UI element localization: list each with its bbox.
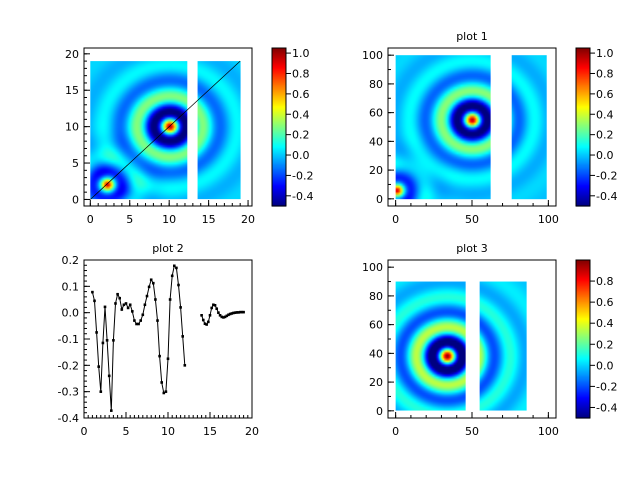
line-series-segment-1-sparse <box>92 266 184 411</box>
data-point-marker <box>207 321 210 324</box>
data-point-marker <box>127 307 130 310</box>
data-point-marker <box>144 303 147 306</box>
data-point-marker <box>150 278 153 281</box>
y-tick-label: 0.0 <box>62 307 80 320</box>
y-tick-label: 40 <box>369 347 383 360</box>
x-tick-label: 5 <box>126 213 133 226</box>
colorbar-tick-label: 0.0 <box>292 149 310 162</box>
y-tick-label: 20 <box>369 164 383 177</box>
x-tick-label: 10 <box>162 213 176 226</box>
data-point-marker <box>91 291 94 294</box>
data-point-marker <box>179 306 182 309</box>
data-point-marker <box>165 390 168 393</box>
axes-content <box>396 55 547 199</box>
heatmap-patch-right-image <box>512 55 547 199</box>
data-point-marker <box>148 286 151 289</box>
y-tick-label: 60 <box>369 319 383 332</box>
data-point-marker <box>177 284 180 287</box>
colorbar-tick-label: 0.8 <box>596 67 614 80</box>
data-point-marker <box>95 331 98 334</box>
panel-top-right: 050100020406080100plot 1-0.4-0.20.00.20.… <box>362 30 617 226</box>
data-point-marker <box>104 306 107 309</box>
data-point-marker <box>169 298 172 301</box>
y-tick-label: 5 <box>72 157 79 170</box>
y-tick-label: 60 <box>369 107 383 120</box>
figure-canvas: 0510152005101520-0.4-0.20.00.20.40.60.81… <box>0 0 640 480</box>
colorbar-tick-label: 0.4 <box>596 317 614 330</box>
data-point-marker <box>152 282 155 285</box>
x-tick-label: 15 <box>203 425 217 438</box>
data-point-marker <box>171 275 174 278</box>
data-point-marker <box>110 409 113 412</box>
data-point-marker <box>102 342 105 345</box>
colorbar-tick-label: -0.4 <box>292 190 313 203</box>
x-tick-label: 0 <box>392 213 399 226</box>
plot-title: plot 2 <box>152 242 184 255</box>
x-tick-label: 10 <box>161 425 175 438</box>
y-tick-label: 0 <box>376 193 383 206</box>
y-tick-label: 100 <box>362 49 383 62</box>
heatmap-patch-left-image <box>396 282 466 411</box>
data-point-marker <box>133 319 136 322</box>
y-tick-label: 10 <box>65 121 79 134</box>
colorbar-tick-label: 0.2 <box>596 338 614 351</box>
x-tick-label: 0 <box>87 213 94 226</box>
y-tick-label: 100 <box>362 261 383 274</box>
colorbar-tick-label: 0.2 <box>596 129 614 142</box>
y-tick-label: 20 <box>65 48 79 61</box>
x-tick-label: 5 <box>123 425 130 438</box>
data-point-marker <box>184 364 187 367</box>
x-tick-label: 15 <box>202 213 216 226</box>
x-tick-label: 100 <box>538 213 559 226</box>
colorbar-tick-label: 0.6 <box>596 296 614 309</box>
x-tick-label: 50 <box>465 425 479 438</box>
data-point-marker <box>175 267 178 270</box>
data-point-marker <box>142 313 145 316</box>
colorbar-tick-label: 0.8 <box>292 67 310 80</box>
colorbar-tick-label: -0.4 <box>596 401 617 414</box>
figure-svg: 0510152005101520-0.4-0.20.00.20.40.60.81… <box>0 0 640 480</box>
data-point-marker <box>205 323 208 326</box>
heatmap-patch-right-image <box>198 61 241 199</box>
y-tick-label: 80 <box>369 78 383 91</box>
data-point-marker <box>139 319 142 322</box>
axes-content <box>91 264 245 411</box>
y-tick-label: -0.1 <box>58 333 79 346</box>
y-tick-label: 0.1 <box>62 280 80 293</box>
y-tick-label: 40 <box>369 135 383 148</box>
heatmap-patch-left-image <box>90 61 187 199</box>
data-point-marker <box>209 314 212 317</box>
data-point-marker <box>156 319 159 322</box>
data-point-marker <box>116 293 119 296</box>
data-point-marker <box>131 310 134 313</box>
colorbar-tick-label: -0.2 <box>292 169 313 182</box>
x-tick-label: 50 <box>465 213 479 226</box>
colorbar-tick-label: -0.2 <box>596 169 617 182</box>
data-point-marker <box>106 339 109 342</box>
colorbar-tick-label: -0.2 <box>596 380 617 393</box>
colorbar-tick-label: 0.6 <box>596 88 614 101</box>
y-tick-label: 0 <box>376 405 383 418</box>
data-point-marker <box>129 303 132 306</box>
panel-bottom-left: 05101520-0.4-0.3-0.2-0.10.00.10.2plot 2 <box>58 242 259 438</box>
data-point-marker <box>118 297 121 300</box>
y-tick-label: 0 <box>72 193 79 206</box>
axes-content <box>90 61 240 199</box>
data-point-marker <box>100 390 103 393</box>
y-tick-label: 15 <box>65 84 79 97</box>
colorbar-tick-label: 0.0 <box>596 359 614 372</box>
data-point-marker <box>114 302 117 305</box>
data-point-marker <box>167 357 170 360</box>
colorbar-tick-label: 0.2 <box>292 129 310 142</box>
colorbar-tick-label: 1.0 <box>292 47 310 60</box>
heatmap-patch-right-image <box>480 282 527 411</box>
data-point-marker <box>181 335 184 338</box>
data-point-marker <box>160 381 163 384</box>
data-point-marker <box>97 365 100 368</box>
data-point-marker <box>210 307 213 310</box>
x-tick-label: 20 <box>245 425 259 438</box>
y-tick-label: 20 <box>369 376 383 389</box>
data-point-marker <box>125 302 128 305</box>
y-tick-label: 0.2 <box>62 254 80 267</box>
colorbar-tick-label: 0.0 <box>596 149 614 162</box>
y-tick-label: -0.4 <box>58 412 79 425</box>
colorbar-tick-label: 0.6 <box>292 88 310 101</box>
axes-content <box>396 282 527 411</box>
colorbar-tick-label: 0.4 <box>596 108 614 121</box>
data-point-marker <box>158 355 161 358</box>
data-point-marker <box>200 314 203 317</box>
panel-top-left: 0510152005101520-0.4-0.20.00.20.40.60.81… <box>65 47 313 226</box>
data-point-marker <box>154 298 157 301</box>
y-tick-label: -0.3 <box>58 386 79 399</box>
data-point-marker <box>137 323 140 326</box>
colorbar-tick-label: 0.4 <box>292 108 310 121</box>
data-point-marker <box>217 311 220 314</box>
colorbar-tick-label: 1.0 <box>596 47 614 60</box>
data-point-marker <box>202 319 205 322</box>
plot-title: plot 3 <box>456 242 488 255</box>
data-point-marker <box>146 295 149 298</box>
axes-frame <box>84 260 252 418</box>
colorbar-tick-label: 0.8 <box>596 275 614 288</box>
data-point-marker <box>214 304 217 307</box>
colorbar-tick-label: -0.4 <box>596 190 617 203</box>
data-point-marker <box>108 375 111 378</box>
data-point-marker <box>93 300 96 303</box>
y-tick-label: -0.2 <box>58 359 79 372</box>
x-tick-label: 20 <box>241 213 255 226</box>
panel-bottom-right: 050100020406080100plot 3-0.4-0.20.00.20.… <box>362 242 617 438</box>
x-tick-label: 0 <box>392 425 399 438</box>
x-tick-label: 100 <box>538 425 559 438</box>
plot-title: plot 1 <box>456 30 488 43</box>
data-point-marker <box>215 307 218 310</box>
data-point-marker <box>121 308 124 311</box>
data-point-marker <box>242 311 245 314</box>
data-point-marker <box>112 339 115 342</box>
y-tick-label: 80 <box>369 290 383 303</box>
x-tick-label: 0 <box>81 425 88 438</box>
heatmap-patch-left-image <box>396 55 491 199</box>
